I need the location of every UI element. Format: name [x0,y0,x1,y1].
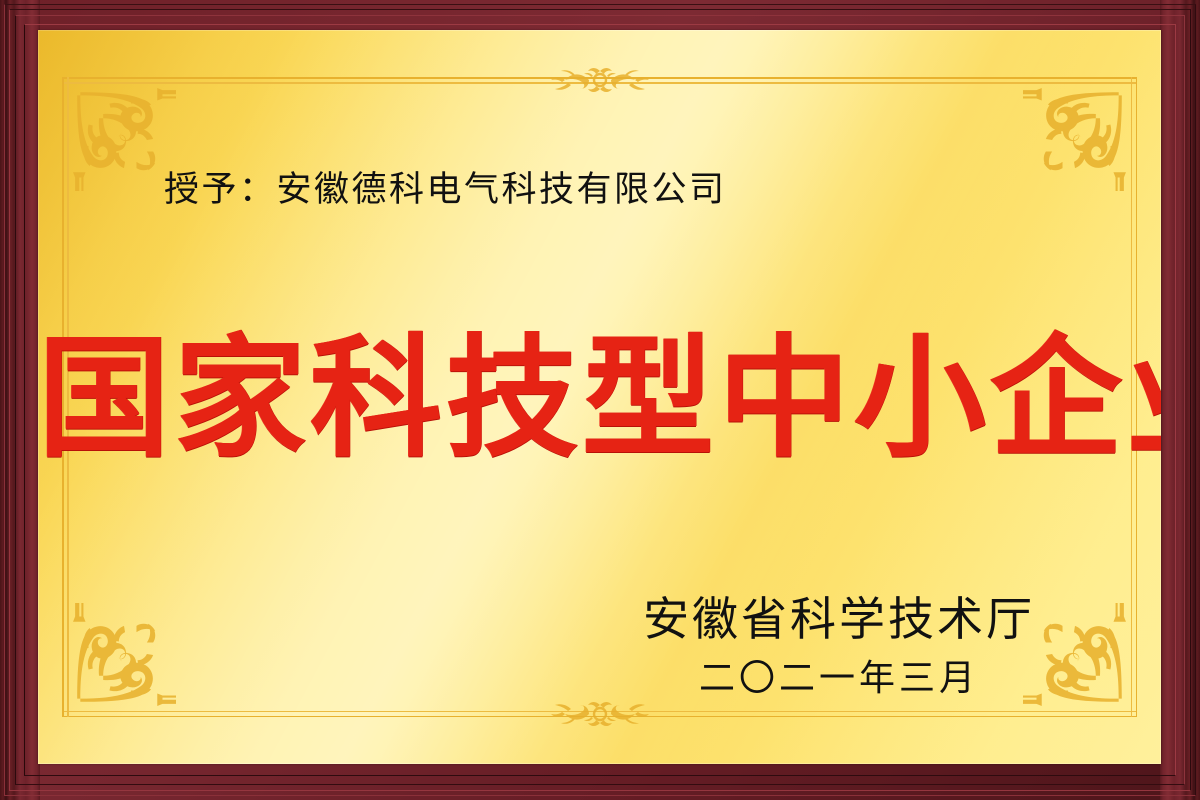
award-recipient-line: 授予：安徽德科电气科技有限公司 [164,161,727,212]
award-plaque: 授予：安徽德科电气科技有限公司 国家科技型中小企业 安徽省科学技术厅 二〇二一年… [0,0,1200,800]
filigree-corner-scroll-icon [72,87,176,191]
filigree-corner-scroll-icon [72,603,176,707]
issuer-name: 安徽省科学技术厅 [643,592,1035,646]
issue-date: 二〇二一年三月 [643,654,1035,703]
rule-top-outer [62,77,1137,79]
gold-plate: 授予：安徽德科电气科技有限公司 国家科技型中小企业 安徽省科学技术厅 二〇二一年… [38,30,1161,764]
rule-bottom-outer [62,716,1137,718]
filigree-corner-scroll-icon [1023,87,1127,191]
rule-bottom-inner [62,711,1137,713]
filigree-corner-scroll-icon [1023,603,1127,707]
page-title: 国家科技型中小企业 [38,333,1161,465]
filigree-edge-flourish-icon [525,63,675,97]
rule-top-inner [62,82,1137,84]
issuer-block: 安徽省科学技术厅 二〇二一年三月 [643,592,1035,703]
